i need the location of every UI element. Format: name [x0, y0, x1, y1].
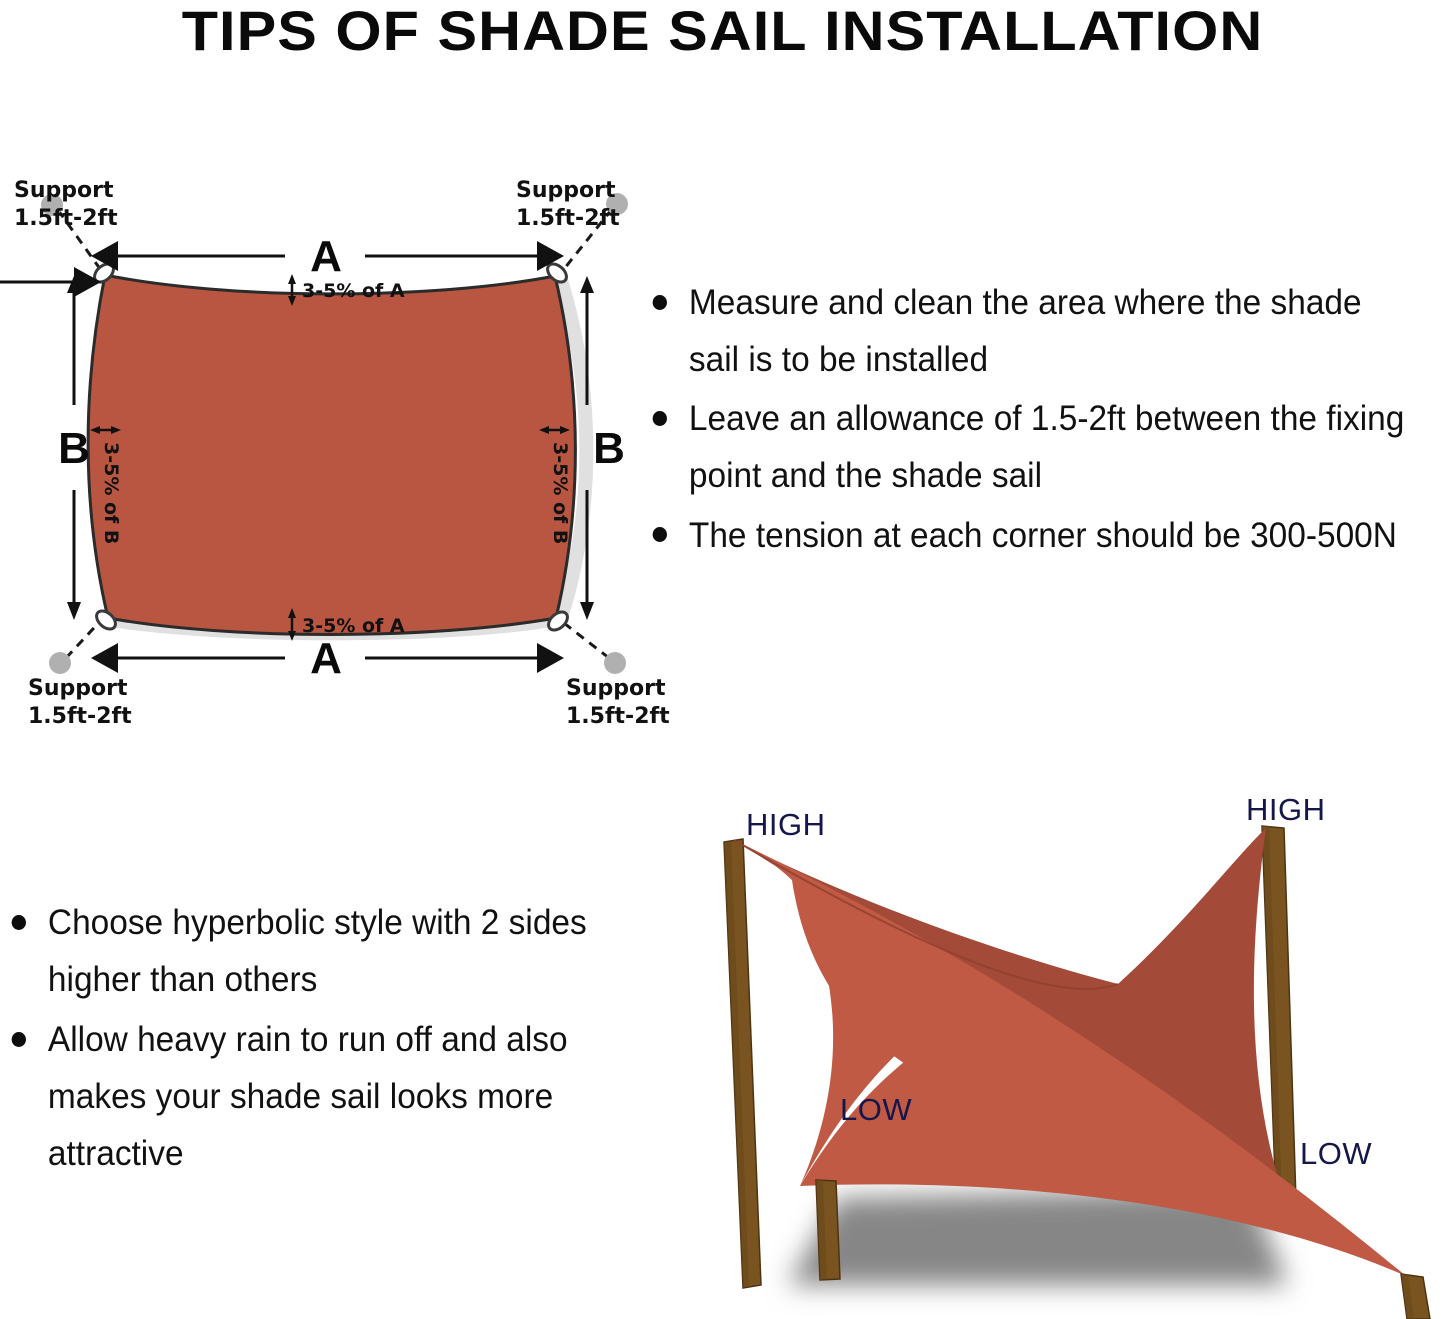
tip-item-tension: The tension at each corner should be 300…: [645, 508, 1419, 565]
label-high-right: HIGH: [1246, 792, 1326, 827]
tip-item-hyperbolic-style: Choose hyperbolic style with 2 sides hig…: [4, 895, 596, 1008]
hyperbolic-sail-illustration: HIGH HIGH LOW LOW: [688, 780, 1445, 1319]
tether-bottom-right: [560, 620, 609, 658]
label-high-left: HIGH: [746, 807, 826, 842]
support-bottom-right-line2: 1.5ft-2ft: [566, 704, 670, 729]
support-top-left-line2: 1.5ft-2ft: [14, 206, 118, 231]
curve-depth-a-top: 3-5% of A: [288, 274, 405, 306]
rectangular-sail-diagram: A A B B 3-5% of A 3-5% of A: [0, 150, 680, 730]
dimension-b-left: B: [0, 276, 90, 620]
curve-b-right-label: 3-5% of B: [549, 442, 571, 544]
curve-a-top-tip-up: [288, 274, 296, 284]
support-bottom-left-line2: 1.5ft-2ft: [28, 704, 132, 729]
dimension-a-bottom: A: [118, 634, 540, 683]
support-label-bottom-left: Support 1.5ft-2ft: [28, 676, 132, 729]
dimension-a-top: A: [118, 232, 540, 281]
dim-b-left-arrowhead-up: [67, 276, 81, 293]
post-low-right: [1401, 1274, 1430, 1319]
page-title: TIPS OF SHADE SAIL INSTALLATION: [0, 0, 1445, 63]
installation-tips-lower-list: Choose hyperbolic style with 2 sides hig…: [4, 895, 624, 1186]
support-label-bottom-right: Support 1.5ft-2ft: [566, 676, 670, 729]
support-top-left-line1: Support: [14, 178, 114, 203]
support-dot-bottom-right: [604, 652, 626, 674]
installation-tips-upper-list: Measure and clean the area where the sha…: [645, 275, 1445, 567]
sail-body: [88, 275, 575, 635]
dim-b-right-arrowhead-down: [580, 602, 594, 620]
support-bottom-right-line1: Support: [566, 676, 666, 701]
support-top-right-line2: 1.5ft-2ft: [516, 206, 620, 231]
dim-label-b-left: B: [58, 424, 90, 473]
tip-item-rain-runoff: Allow heavy rain to run off and also mak…: [4, 1012, 596, 1182]
label-low-right: LOW: [1300, 1136, 1372, 1171]
support-top-right-line1: Support: [516, 178, 616, 203]
support-label-top-left: Support 1.5ft-2ft: [14, 178, 118, 231]
label-low-left: LOW: [840, 1092, 912, 1127]
support-label-top-right: Support 1.5ft-2ft: [516, 178, 620, 231]
dim-b-left-arrowhead-down: [67, 602, 81, 620]
post-low-left: [816, 1180, 840, 1280]
dim-label-b-right: B: [593, 424, 625, 473]
support-bottom-left-line1: Support: [28, 676, 128, 701]
dim-label-a-top: A: [310, 232, 342, 281]
support-dot-bottom-left: [49, 652, 71, 674]
tip-item-measure-clean: Measure and clean the area where the sha…: [645, 275, 1419, 388]
curve-a-top-label: 3-5% of A: [302, 280, 405, 302]
curve-b-left-label: 3-5% of B: [100, 442, 122, 544]
tip-item-allowance: Leave an allowance of 1.5-2ft between th…: [645, 391, 1419, 504]
dim-label-a-bottom: A: [310, 634, 342, 683]
dim-b-right-arrowhead-up: [580, 276, 594, 293]
curve-a-bottom-label: 3-5% of A: [302, 615, 405, 637]
post-high-left: [724, 839, 761, 1288]
